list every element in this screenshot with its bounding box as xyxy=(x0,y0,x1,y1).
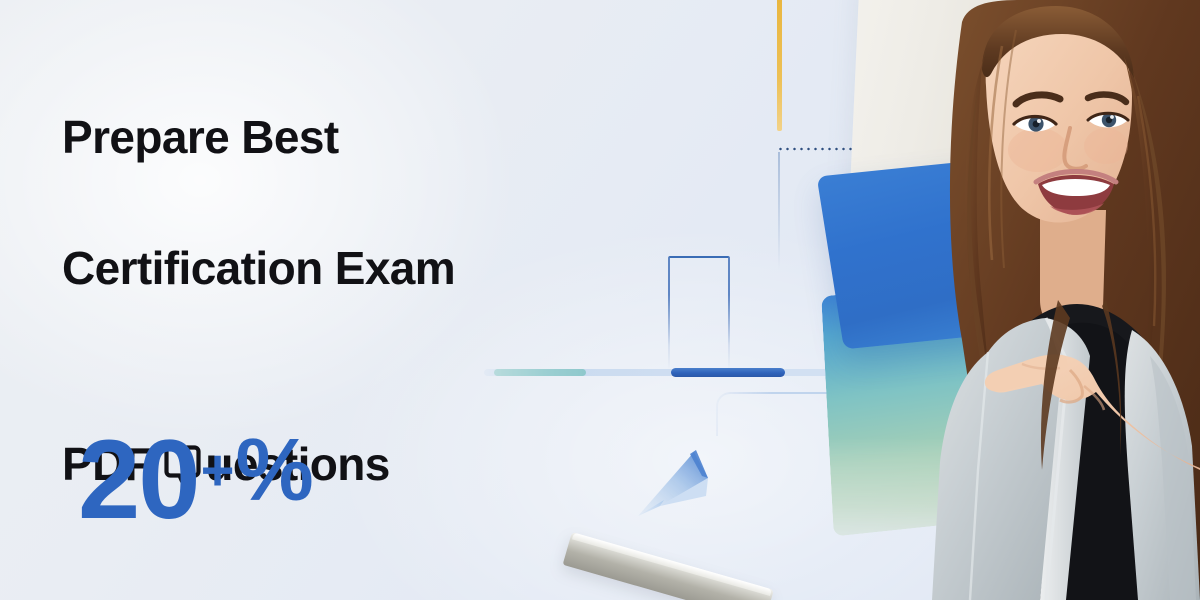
stat-plus-sign: + xyxy=(201,442,234,500)
fading-vertical-line xyxy=(778,152,780,270)
dotted-horizontal-line xyxy=(777,147,859,151)
stat-highlight: 20 + % xyxy=(78,424,312,536)
stat-percent-sign: % xyxy=(235,426,311,514)
promo-banner: Prepare Best Certification Exam PDF uest… xyxy=(0,0,1200,600)
progress-segment-blue xyxy=(671,368,785,377)
headline-line-1: Prepare Best xyxy=(62,105,622,170)
amber-vertical-line xyxy=(777,0,782,131)
outlined-rectangle xyxy=(668,256,730,370)
headline-line-2: Certification Exam xyxy=(62,236,622,301)
person-photo xyxy=(870,0,1200,600)
stat-number: 20 xyxy=(78,424,199,536)
paper-plane-icon xyxy=(620,440,735,525)
